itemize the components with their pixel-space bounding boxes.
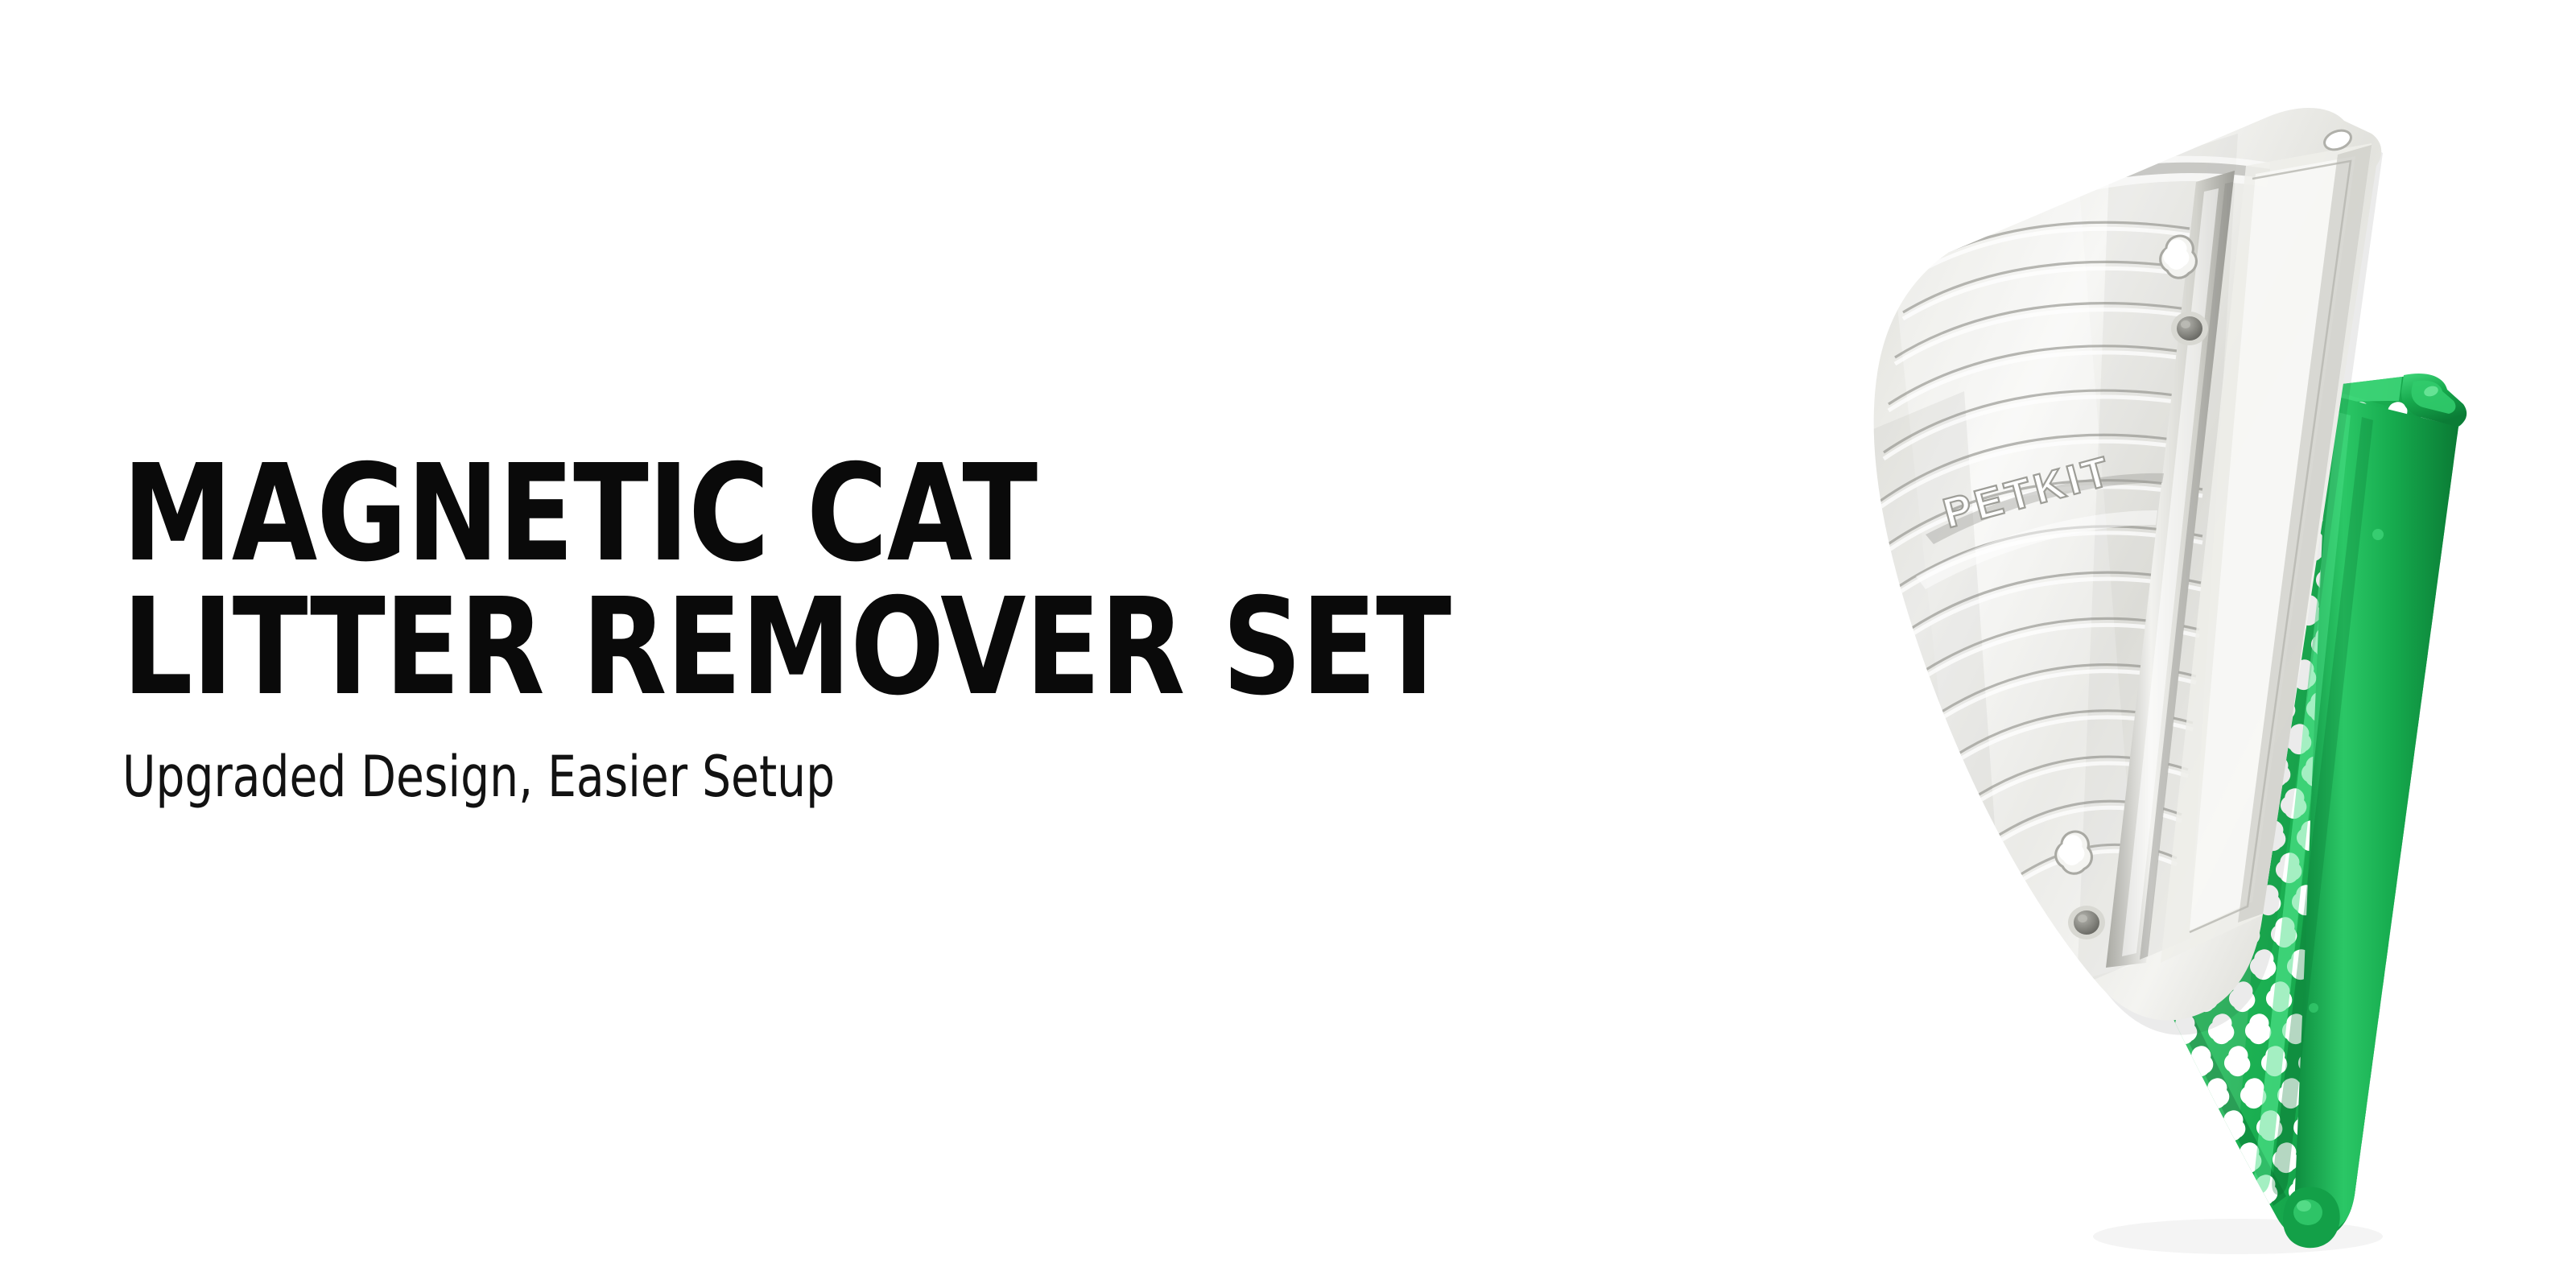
magnet-stud-bottom	[2068, 906, 2105, 939]
product-image: PETKIT	[1626, 13, 2576, 1288]
copy-block: MAGNETIC CAT LITTER REMOVER SET Upgraded…	[122, 448, 1612, 807]
marketing-banner: MAGNETIC CAT LITTER REMOVER SET Upgraded…	[0, 0, 2576, 1288]
subtitle: Upgraded Design, Easier Setup	[122, 715, 1463, 807]
magnet-stud-top	[2171, 312, 2208, 345]
tray-bottom-tip	[2283, 1187, 2340, 1248]
headline-line-1: MAGNETIC CAT	[122, 448, 1492, 581]
page-title: MAGNETIC CAT LITTER REMOVER SET	[122, 448, 1492, 715]
headline-line-2: LITTER REMOVER SET	[122, 581, 1492, 715]
